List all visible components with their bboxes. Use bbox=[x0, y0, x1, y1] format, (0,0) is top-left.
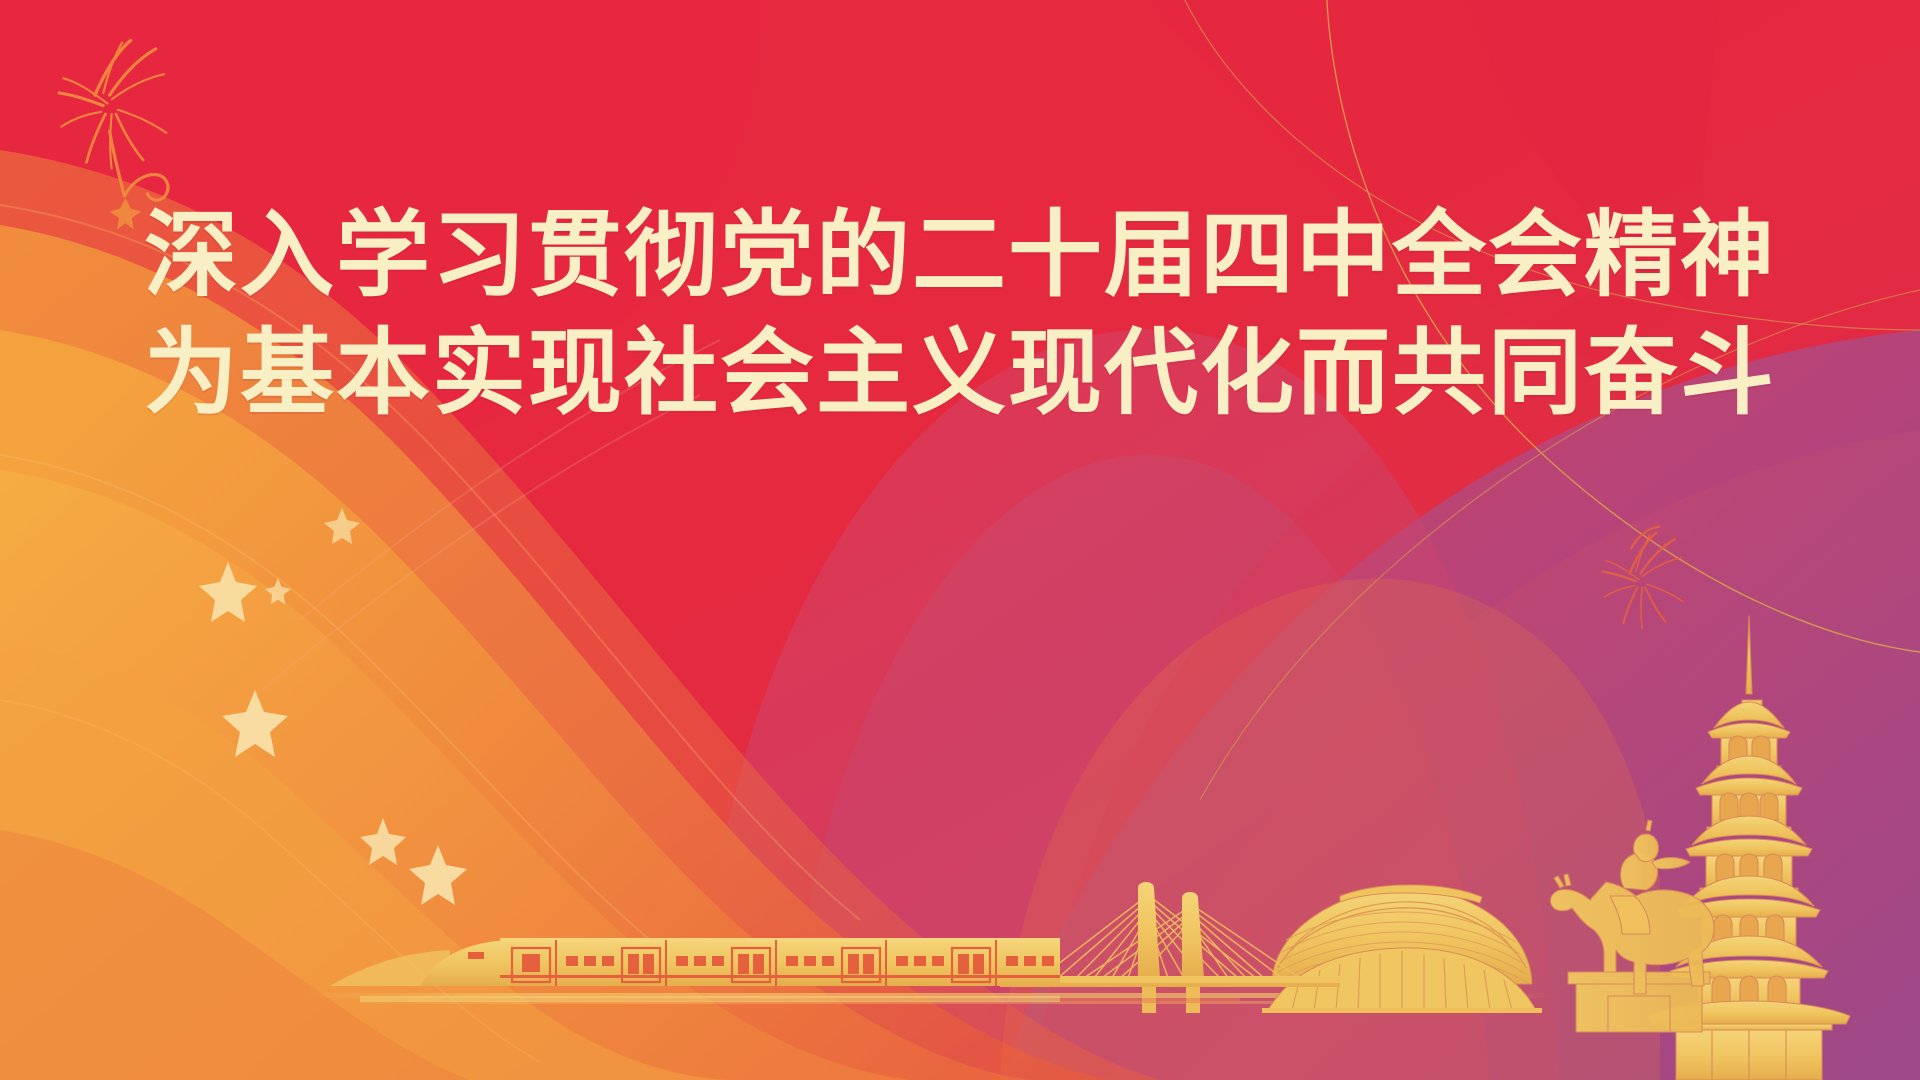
skyline-layer bbox=[0, 0, 1920, 1080]
poster-canvas: 深入学习贯彻党的二十届四中全会精神 为基本实现社会主义现代化而共同奋斗 bbox=[0, 0, 1920, 1080]
stadium-arena bbox=[1262, 885, 1542, 1013]
